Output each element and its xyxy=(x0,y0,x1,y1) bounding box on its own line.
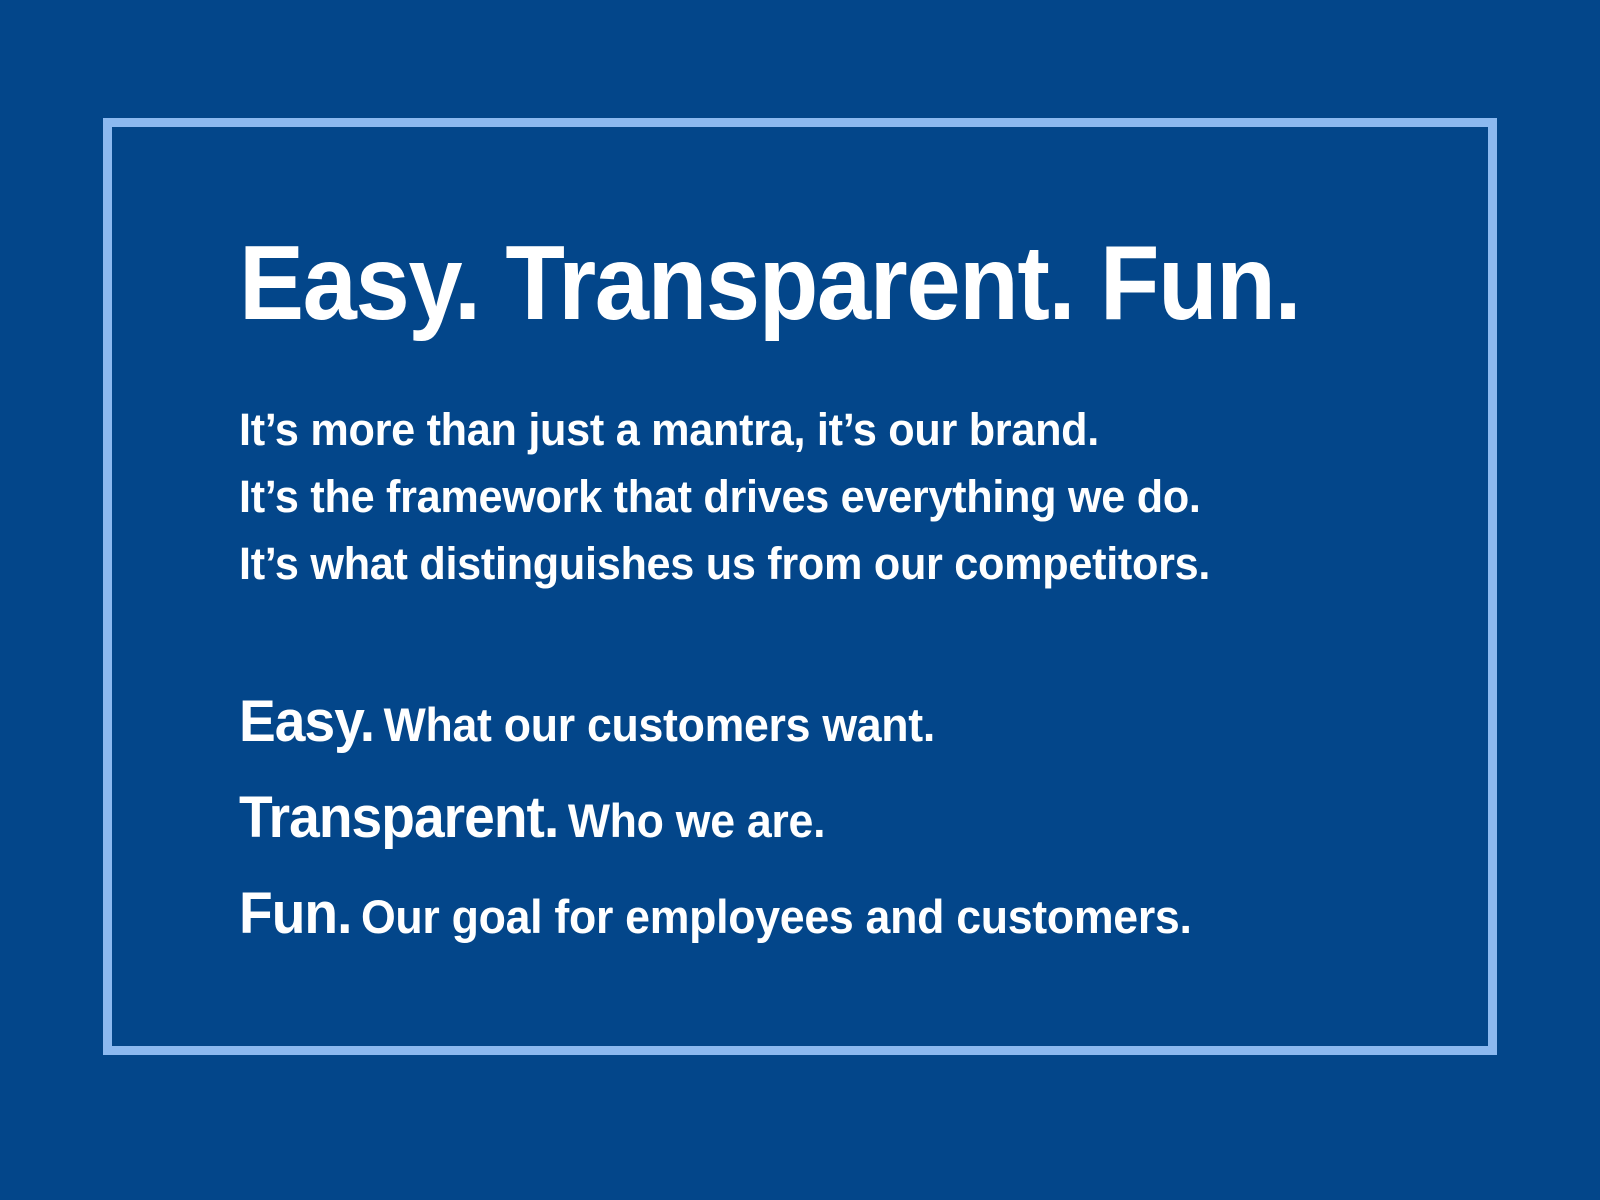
pillar-term: Fun. xyxy=(239,881,351,946)
list-item: Easy.What our customers want. xyxy=(239,681,1322,777)
slide-content: Easy. Transparent. Fun. It’s more than j… xyxy=(239,230,1379,969)
pillar-list: Easy.What our customers want. Transparen… xyxy=(239,681,1379,969)
page-title: Easy. Transparent. Fun. xyxy=(239,230,1288,336)
pillar-term: Easy. xyxy=(239,689,374,754)
pillar-description: Our goal for employees and customers. xyxy=(361,890,1192,943)
intro-paragraph-line: It’s the framework that drives everythin… xyxy=(239,463,1333,530)
brand-slide: Easy. Transparent. Fun. It’s more than j… xyxy=(0,0,1600,1200)
intro-paragraph-line: It’s more than just a mantra, it’s our b… xyxy=(239,396,1333,463)
intro-paragraph: It’s more than just a mantra, it’s our b… xyxy=(239,396,1379,597)
intro-paragraph-line: It’s what distinguishes us from our comp… xyxy=(239,530,1333,597)
pillar-term: Transparent. xyxy=(239,785,558,850)
pillar-description: Who we are. xyxy=(568,794,825,847)
list-item: Fun.Our goal for employees and customers… xyxy=(239,873,1322,969)
list-item: Transparent.Who we are. xyxy=(239,777,1322,873)
pillar-description: What our customers want. xyxy=(384,698,935,751)
